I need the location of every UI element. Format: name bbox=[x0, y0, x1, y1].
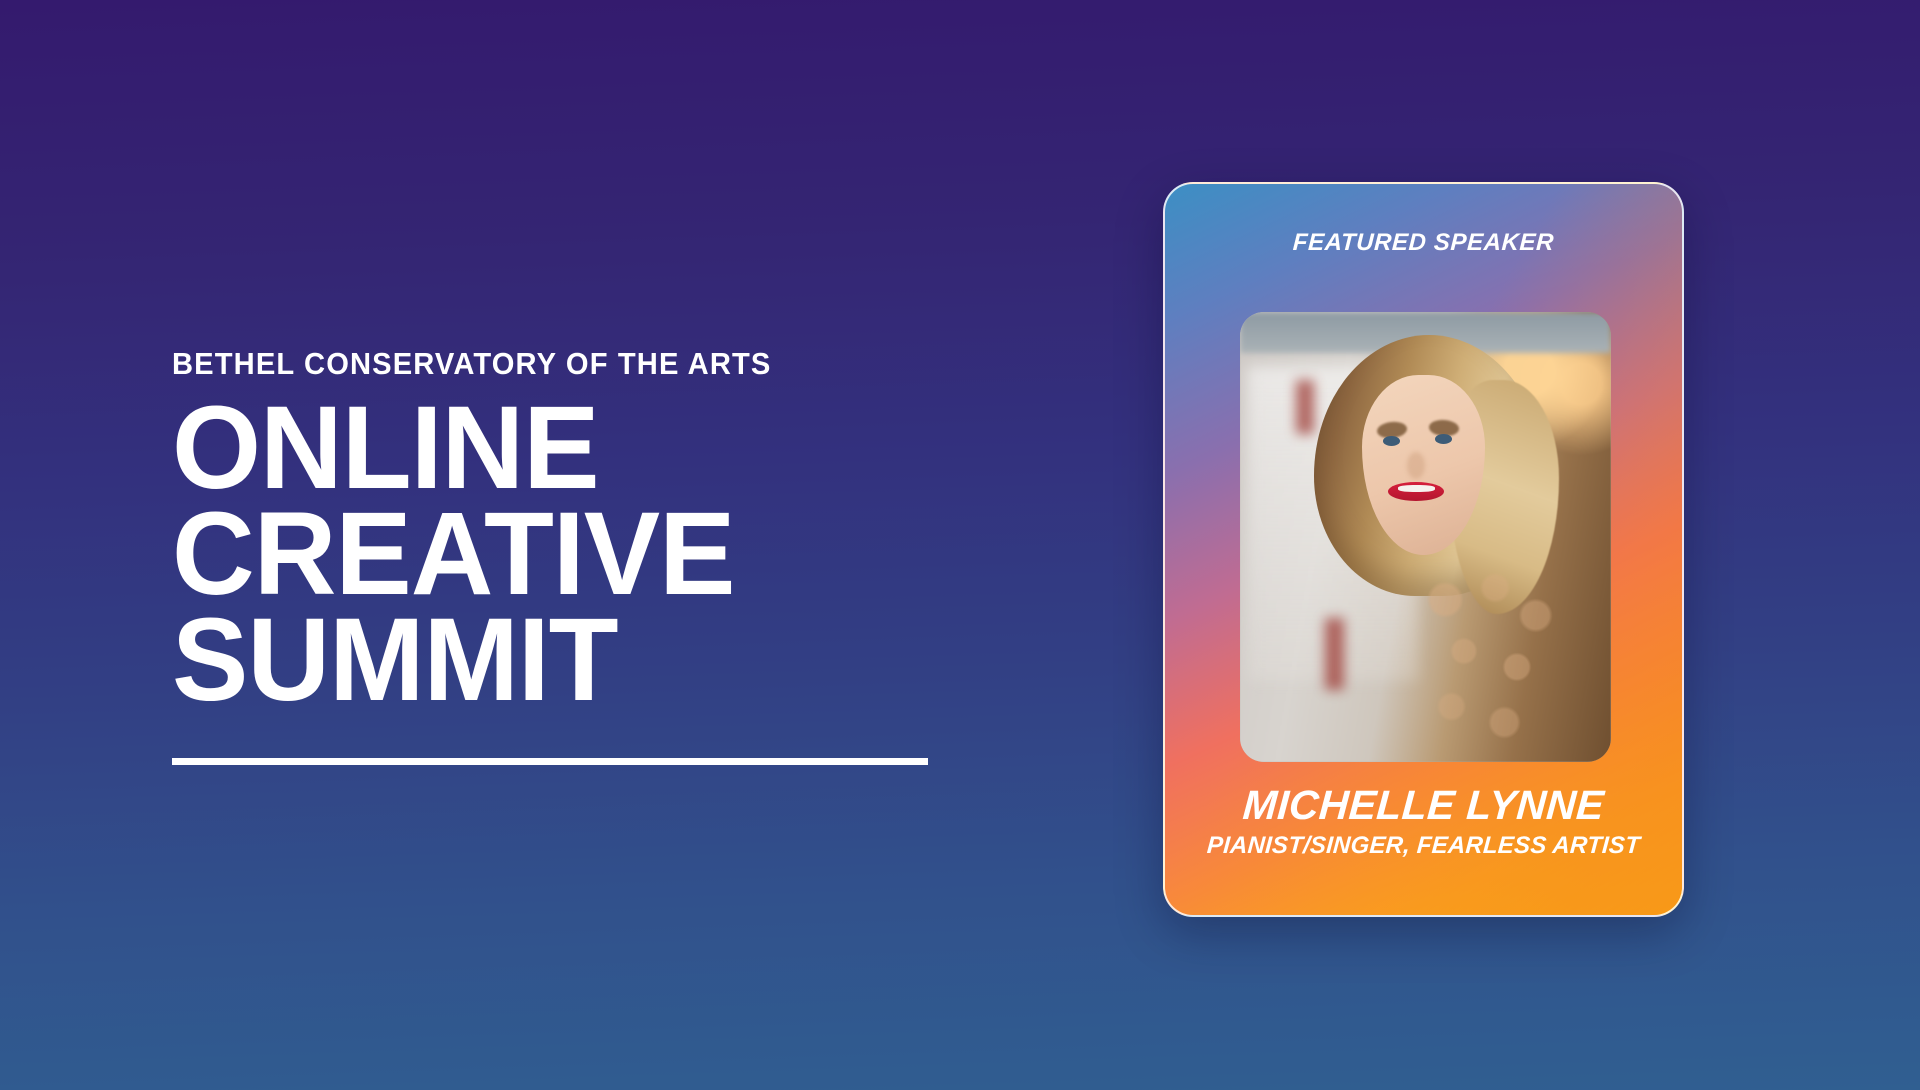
speaker-name: MICHELLE LYNNE bbox=[1163, 782, 1683, 829]
featured-speaker-kicker: FEATURED SPEAKER bbox=[1164, 229, 1682, 257]
featured-speaker-card: FEATURED SPEAKER bbox=[1163, 182, 1684, 917]
headline-line-1: ONLINE bbox=[172, 395, 958, 501]
portrait-lace-pattern bbox=[1414, 564, 1570, 762]
speaker-role: PIANIST/SINGER, FEARLESS ARTIST bbox=[1164, 832, 1683, 860]
event-headline: ONLINE CREATIVE SUMMIT bbox=[172, 395, 958, 714]
title-divider-rule bbox=[172, 758, 928, 765]
portrait-teeth bbox=[1398, 485, 1435, 492]
headline-line-3: SUMMIT bbox=[172, 607, 958, 713]
speaker-photo-frame bbox=[1240, 312, 1611, 762]
poster-canvas: BETHEL CONSERVATORY OF THE ARTS ONLINE C… bbox=[0, 0, 1920, 1090]
organization-eyebrow: BETHEL CONSERVATORY OF THE ARTS bbox=[172, 348, 933, 379]
title-block: BETHEL CONSERVATORY OF THE ARTS ONLINE C… bbox=[172, 348, 982, 765]
headline-line-2: CREATIVE bbox=[172, 501, 958, 607]
portrait-eye-left bbox=[1383, 436, 1400, 446]
speaker-portrait-photo bbox=[1240, 312, 1611, 762]
portrait-nose bbox=[1407, 452, 1426, 479]
